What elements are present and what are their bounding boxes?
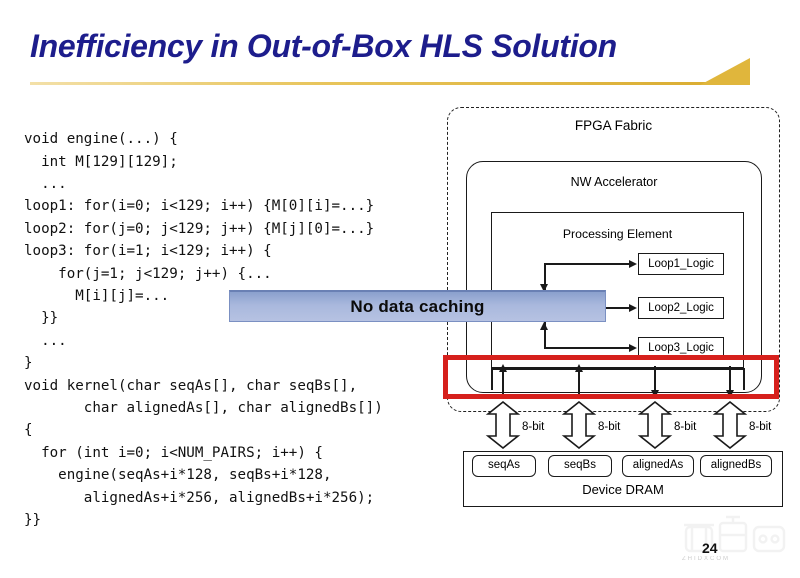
- dram-buffer-alignedas: alignedAs: [622, 455, 694, 477]
- bus-width-label-seqas: 8-bit: [522, 421, 544, 433]
- bus-width-label-alignedas: 8-bit: [674, 421, 696, 433]
- dram-buffer-seqas: seqAs: [472, 455, 536, 477]
- processing-element-label: Processing Element: [491, 227, 744, 241]
- fpga-fabric-label: FPGA Fabric: [447, 118, 780, 133]
- pe-bus-to-loop3: [544, 347, 630, 349]
- pe-bus-to-loop2: [605, 307, 630, 309]
- dram-buffer-seqbs: seqBs: [548, 455, 612, 477]
- bus-width-label-seqbs: 8-bit: [598, 421, 620, 433]
- loop2-logic-block: Loop2_Logic: [638, 297, 724, 319]
- pe-arrow-loop2-icon: [629, 304, 637, 312]
- dram-buffer-alignedbs: alignedBs: [700, 455, 772, 477]
- loop1-logic-block: Loop1_Logic: [638, 253, 724, 275]
- watermark-logo-icon: [680, 513, 790, 559]
- nw-accelerator-label: NW Accelerator: [466, 175, 762, 189]
- fpga-architecture-diagram: FPGA Fabric NW Accelerator Processing El…: [0, 0, 800, 578]
- pe-arrow-loop3-icon: [629, 344, 637, 352]
- pe-arrow-into-banner-bottom-icon: [540, 322, 548, 330]
- no-caching-highlight-rect: [443, 355, 779, 399]
- no-data-caching-callout: No data caching: [229, 290, 606, 322]
- bus-arrow-seqas-icon: [484, 401, 522, 449]
- bus-arrow-seqbs-icon: [560, 401, 598, 449]
- watermark-subtext: ZHIDXCOM: [682, 556, 730, 562]
- bus-arrow-alignedbs-icon: [711, 401, 749, 449]
- device-dram-label: Device DRAM: [463, 482, 783, 497]
- bus-arrow-alignedas-icon: [636, 401, 674, 449]
- pe-bus-to-loop1: [544, 263, 630, 265]
- bus-width-label-alignedbs: 8-bit: [749, 421, 771, 433]
- pe-arrow-loop1-icon: [629, 260, 637, 268]
- page-number: 24: [702, 540, 718, 556]
